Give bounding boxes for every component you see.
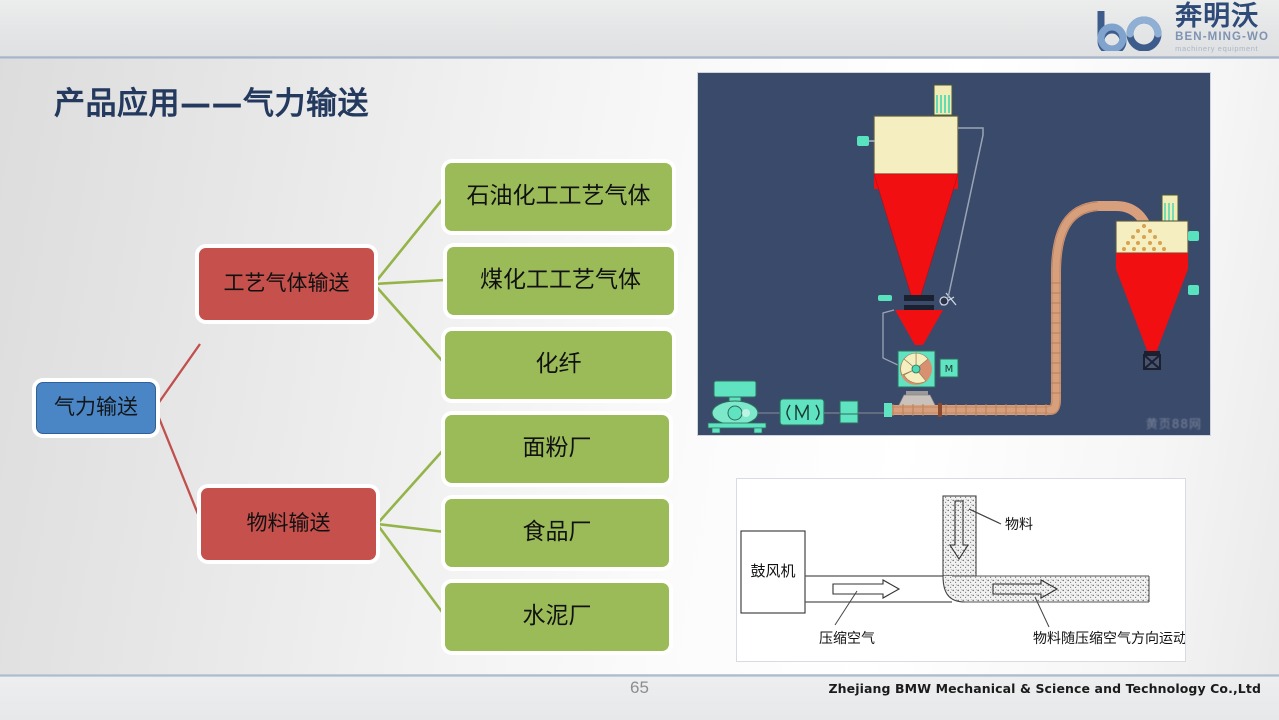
company-logo: 奔明沃 BEN-MING-WO machinery equipment	[1039, 2, 1269, 56]
logo-english-name: BEN-MING-WO	[1175, 31, 1269, 45]
mindmap-leaf-node[interactable]: 面粉厂	[445, 415, 669, 483]
mindmap-leaf-node[interactable]: 石油化工工艺气体	[445, 163, 672, 231]
mindmap-branch-label: 物料输送	[247, 512, 331, 535]
mindmap-leaf-label: 食品厂	[523, 520, 592, 545]
svg-text:物料随压缩空气方向运动: 物料随压缩空气方向运动	[1033, 631, 1185, 647]
mindmap-leaf-label: 面粉厂	[523, 436, 592, 461]
mindmap-leaf-label: 水泥厂	[523, 604, 592, 629]
image-watermark: 黄页88网	[1146, 415, 1202, 432]
mindmap-root-label: 气力输送	[54, 396, 138, 419]
mindmap-leaf-node[interactable]: 化纤	[445, 331, 672, 399]
svg-text:物料: 物料	[1005, 517, 1033, 533]
mindmap-leaf-node[interactable]: 食品厂	[445, 499, 669, 567]
footer-company-name: Zhejiang BMW Mechanical & Science and Te…	[829, 681, 1261, 696]
mindmap-leaf-label: 化纤	[536, 352, 582, 377]
pneumatic-conveying-system-image: M	[698, 73, 1210, 435]
logo-tagline: machinery equipment	[1175, 44, 1258, 53]
logo-chinese-name: 奔明沃	[1175, 3, 1259, 30]
mindmap-root-node[interactable]: 气力输送	[36, 382, 156, 434]
product-application-mindmap: 气力输送 工艺气体输送 物料输送 石油化工工艺气体 煤化工工艺气体 化纤 面粉厂…	[0, 58, 698, 668]
mindmap-leaf-node[interactable]: 煤化工工艺气体	[447, 247, 674, 315]
mindmap-leaf-node[interactable]: 水泥厂	[445, 583, 669, 651]
svg-text:压缩空气: 压缩空气	[819, 631, 875, 647]
mindmap-branch-label: 工艺气体输送	[224, 272, 350, 295]
svg-text:M: M	[945, 364, 954, 375]
svg-text:鼓风机: 鼓风机	[750, 562, 795, 580]
bo-monogram-logo-icon	[1087, 7, 1179, 51]
mindmap-leaf-label: 煤化工工艺气体	[480, 268, 641, 293]
mindmap-branch-node-material[interactable]: 物料输送	[201, 488, 376, 560]
mindmap-leaf-label: 石油化工工艺气体	[467, 184, 651, 209]
pneumatic-principle-diagram-image: 鼓风机 物料 压缩空气 物料随	[737, 479, 1185, 661]
mindmap-branch-node-process-gas[interactable]: 工艺气体输送	[199, 248, 374, 320]
